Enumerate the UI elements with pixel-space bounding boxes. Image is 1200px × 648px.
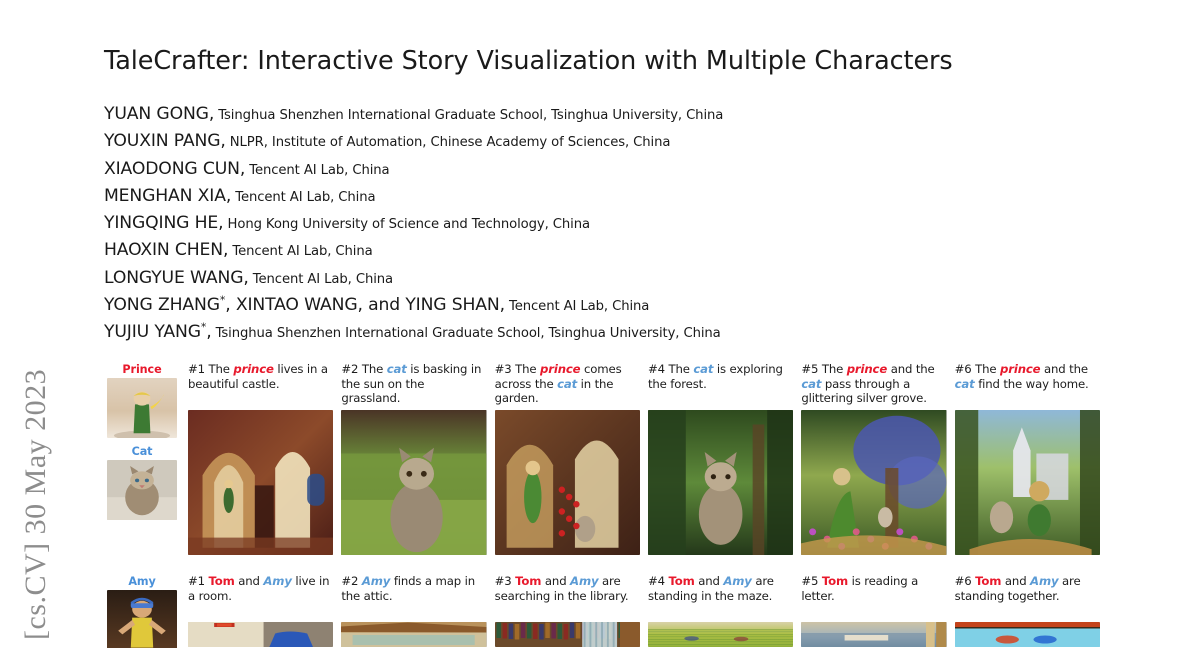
caption-entity: Amy (723, 574, 751, 588)
story-panel: #1 The prince lives in a beautiful castl… (188, 362, 333, 555)
author-list: YUAN GONG, Tsinghua Shenzhen Internation… (104, 100, 1084, 346)
story-image-2-cat-grassland[interactable] (341, 410, 486, 555)
caption-index: #3 (495, 362, 516, 376)
story-image-5-silver-grove[interactable] (801, 410, 946, 555)
author-affiliation: Tencent AI Lab, China (228, 244, 372, 259)
story-caption: #3 The prince comes across the cat in th… (495, 362, 640, 410)
character-label: Amy (104, 574, 180, 589)
character-reference[interactable]: Amy (104, 574, 180, 648)
story-caption: #2 Amy finds a map in the attic. (341, 574, 486, 622)
author-affiliation: Tencent AI Lab, China (505, 299, 649, 314)
story-row-prince-cat: PrinceCat#1 The prince lives in a beauti… (104, 362, 1100, 574)
character-reference-column: PrinceCat (104, 362, 180, 526)
author-affiliation: NLPR, Institute of Automation, Chinese A… (226, 135, 671, 150)
story-image-9-library[interactable] (495, 622, 640, 647)
story-image-1-archway-castle[interactable] (188, 410, 333, 555)
caption-entity: prince (540, 362, 580, 376)
author-affiliation: Tsinghua Shenzhen International Graduate… (212, 326, 721, 341)
character-reference[interactable]: Cat (104, 444, 180, 520)
story-panel: #3 The prince comes across the cat in th… (495, 362, 640, 555)
story-image-11-letter[interactable] (801, 622, 946, 647)
author-affiliation: Tencent AI Lab, China (231, 190, 375, 205)
author-name: YUJIU YANG*, (104, 322, 212, 342)
author-name: XIAODONG CUN, (104, 159, 245, 179)
story-panel: #4 Tom and Amy are standing in the maze. (648, 574, 793, 647)
author-line: MENGHAN XIA, Tencent AI Lab, China (104, 182, 1084, 209)
caption-index: #1 (188, 362, 209, 376)
caption-index: #1 (188, 574, 209, 588)
caption-index: #2 (341, 362, 362, 376)
author-affiliation: Hong Kong University of Science and Tech… (223, 217, 590, 232)
caption-entity: Tom (209, 574, 235, 588)
author-name: MENGHAN XIA, (104, 186, 231, 206)
caption-entity: prince (847, 362, 887, 376)
story-image-4-cat-forest[interactable] (648, 410, 793, 555)
story-image-8-attic[interactable] (341, 622, 486, 647)
caption-entity: Tom (668, 574, 694, 588)
character-label: Cat (104, 444, 180, 459)
author-name: YINGQING HE, (104, 213, 223, 233)
story-row-tom-amy: Amy#1 Tom and Amy live in a room.#2 Amy … (104, 574, 1100, 648)
story-caption: #1 Tom and Amy live in a room. (188, 574, 333, 622)
story-panel: #4 The cat is exploring the forest. (648, 362, 793, 555)
character-thumb-amy[interactable] (107, 590, 177, 648)
story-image-12-together[interactable] (955, 622, 1100, 647)
author-name: LONGYUE WANG, (104, 268, 249, 288)
author-affiliation: Tsinghua Shenzhen International Graduate… (214, 108, 723, 123)
story-caption: #2 The cat is basking in the sun on the … (341, 362, 486, 410)
paper-page: [cs.CV] 30 May 2023 TaleCrafter: Interac… (0, 0, 1200, 648)
arxiv-side-stamp: [cs.CV] 30 May 2023 (0, 0, 72, 648)
character-thumb-cat[interactable] (107, 460, 177, 520)
author-name: HAOXIN CHEN, (104, 240, 228, 260)
story-panel: #6 Tom and Amy are standing together. (955, 574, 1100, 647)
story-image-10-maze[interactable] (648, 622, 793, 647)
author-line: YUJIU YANG*, Tsinghua Shenzhen Internati… (104, 318, 1084, 345)
caption-entity: Tom (822, 574, 848, 588)
story-panel: #2 Amy finds a map in the attic. (341, 574, 486, 647)
author-line: XIAODONG CUN, Tencent AI Lab, China (104, 155, 1084, 182)
caption-entity: Amy (1030, 574, 1058, 588)
page-title: TaleCrafter: Interactive Story Visualiza… (104, 46, 1084, 76)
caption-index: #5 (801, 574, 822, 588)
caption-index: #4 (648, 574, 669, 588)
story-panel: #1 Tom and Amy live in a room. (188, 574, 333, 647)
caption-entity: cat (693, 362, 713, 376)
caption-entity: Tom (515, 574, 541, 588)
story-image-3-prince-meets-cat-garden[interactable] (495, 410, 640, 555)
author-name: YONG ZHANG*, XINTAO WANG, and YING SHAN, (104, 295, 505, 315)
story-image-7-room[interactable] (188, 622, 333, 647)
story-caption: #4 Tom and Amy are standing in the maze. (648, 574, 793, 622)
author-affiliation: Tencent AI Lab, China (245, 163, 389, 178)
author-name: YOUXIN PANG, (104, 131, 226, 151)
story-image-6-way-home-castle[interactable] (955, 410, 1100, 555)
story-panel: #5 Tom is reading a letter. (801, 574, 946, 647)
caption-index: #5 (801, 362, 822, 376)
caption-entity: prince (233, 362, 273, 376)
story-panel: #3 Tom and Amy are searching in the libr… (495, 574, 640, 647)
caption-index: #6 (955, 362, 976, 376)
caption-index: #6 (955, 574, 976, 588)
caption-entity: cat (955, 377, 975, 391)
caption-entity: prince (1000, 362, 1040, 376)
character-reference-column: Amy (104, 574, 180, 648)
caption-entity: Amy (362, 574, 390, 588)
story-caption: #5 The prince and the cat pass through a… (801, 362, 946, 410)
caption-index: #2 (341, 574, 362, 588)
author-line: YUAN GONG, Tsinghua Shenzhen Internation… (104, 100, 1084, 127)
story-caption: #6 The prince and the cat find the way h… (955, 362, 1100, 410)
story-caption: #5 Tom is reading a letter. (801, 574, 946, 622)
author-line: YOUXIN PANG, NLPR, Institute of Automati… (104, 127, 1084, 154)
character-reference[interactable]: Prince (104, 362, 180, 438)
story-panel: #6 The prince and the cat find the way h… (955, 362, 1100, 555)
author-affiliation: Tencent AI Lab, China (249, 272, 393, 287)
caption-entity: Tom (975, 574, 1001, 588)
story-caption: #4 The cat is exploring the forest. (648, 362, 793, 410)
character-label: Prince (104, 362, 180, 377)
story-panel-strip: #1 Tom and Amy live in a room.#2 Amy fin… (188, 574, 1100, 647)
story-panel-strip: #1 The prince lives in a beautiful castl… (188, 362, 1100, 555)
story-caption: #1 The prince lives in a beautiful castl… (188, 362, 333, 410)
caption-entity: Amy (570, 574, 598, 588)
caption-entity: cat (387, 362, 407, 376)
caption-entity: cat (557, 377, 577, 391)
character-thumb-prince[interactable] (107, 378, 177, 438)
story-panel: #2 The cat is basking in the sun on the … (341, 362, 486, 555)
caption-index: #3 (495, 574, 516, 588)
caption-index: #4 (648, 362, 669, 376)
arxiv-stamp-text: [cs.CV] 30 May 2023 (19, 369, 53, 640)
author-name: YUAN GONG, (104, 104, 214, 124)
caption-entity: Amy (263, 574, 291, 588)
paper-content: TaleCrafter: Interactive Story Visualiza… (104, 0, 1104, 648)
author-line: YINGQING HE, Hong Kong University of Sci… (104, 209, 1084, 236)
caption-entity: cat (801, 377, 821, 391)
story-caption: #6 Tom and Amy are standing together. (955, 574, 1100, 622)
author-line: YONG ZHANG*, XINTAO WANG, and YING SHAN,… (104, 291, 1084, 318)
author-line: HAOXIN CHEN, Tencent AI Lab, China (104, 236, 1084, 263)
story-caption: #3 Tom and Amy are searching in the libr… (495, 574, 640, 622)
teaser-figure: PrinceCat#1 The prince lives in a beauti… (104, 362, 1100, 648)
author-line: LONGYUE WANG, Tencent AI Lab, China (104, 264, 1084, 291)
story-panel: #5 The prince and the cat pass through a… (801, 362, 946, 555)
